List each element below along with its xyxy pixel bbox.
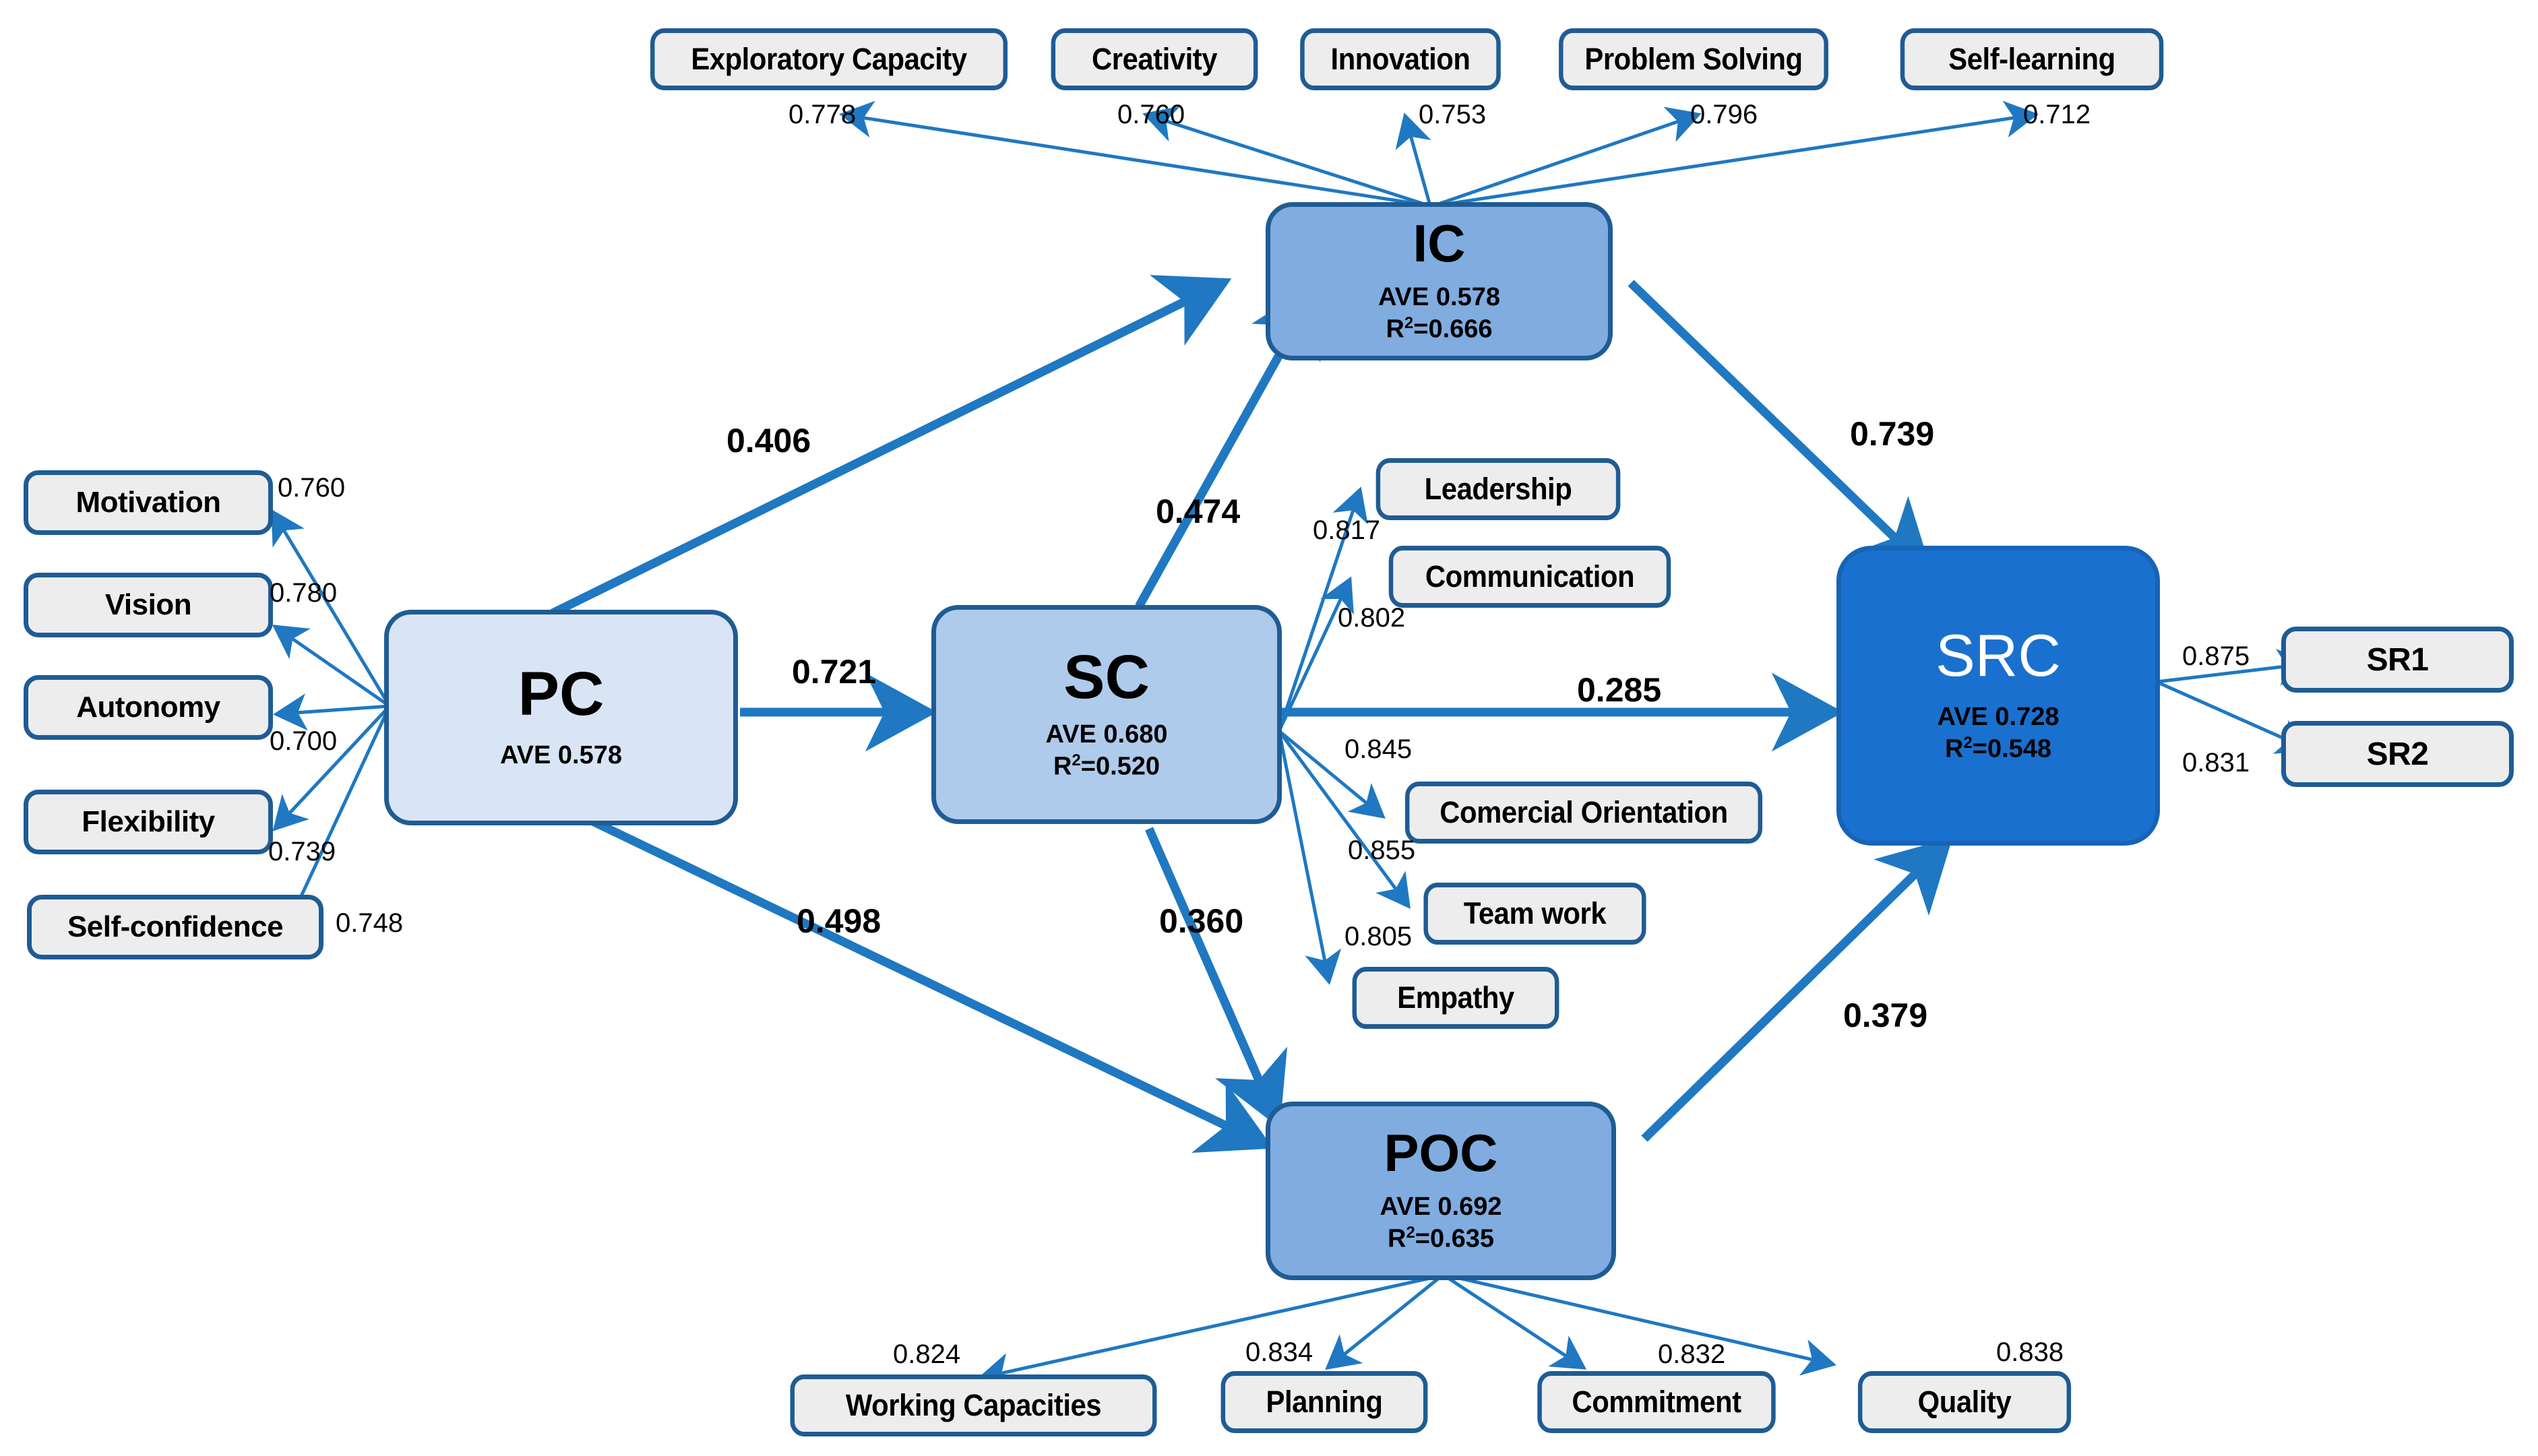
indicator-leadership[interactable]: Leadership (1376, 458, 1621, 520)
loading-comercial-orientation: 0.845 (1344, 734, 1412, 765)
construct-sc-r2: R2=0.520 (1053, 751, 1160, 783)
indicator-commitment[interactable]: Commitment (1537, 1371, 1775, 1433)
loading-sr2: 0.831 (2182, 748, 2250, 778)
path-coefficient-sc-poc: 0.360 (1159, 901, 1243, 941)
construct-src-ave: AVE 0.728 (1938, 701, 2060, 734)
path-coefficient-pc-poc: 0.498 (797, 901, 881, 941)
construct-pc-ave: AVE 0.578 (500, 740, 622, 772)
path-coefficient-pc-ic: 0.406 (726, 421, 811, 460)
indicator-self-confidence[interactable]: Self-confidence (27, 895, 323, 959)
indicator-sr1[interactable]: SR1 (2281, 627, 2514, 693)
sem-path-diagram: Exploratory Capacity 0.778 Creativity 0.… (0, 0, 2538, 1456)
construct-poc-ave: AVE 0.692 (1380, 1191, 1502, 1224)
loading-planning: 0.834 (1245, 1337, 1313, 1368)
loading-creativity: 0.760 (1117, 100, 1185, 130)
indicator-exploratory-capacity[interactable]: Exploratory Capacity (650, 28, 1008, 90)
construct-src-r2-exponent: 2 (1963, 734, 1972, 752)
path-coefficient-pc-sc: 0.721 (792, 652, 876, 691)
loading-team-work: 0.855 (1348, 835, 1415, 866)
indicator-flexibility[interactable]: Flexibility (24, 790, 273, 854)
loading-working-capacities: 0.824 (893, 1339, 960, 1370)
construct-src-label: SRC (1936, 626, 2061, 685)
loading-leadership: 0.817 (1313, 515, 1380, 546)
indicator-problem-solving[interactable]: Problem Solving (1559, 28, 1828, 90)
construct-src-r2: R2=0.548 (1945, 733, 2051, 765)
indicator-team-work[interactable]: Team work (1423, 883, 1646, 945)
indicator-innovation[interactable]: Innovation (1300, 28, 1501, 90)
loading-self-learning: 0.712 (2023, 100, 2091, 130)
construct-ic-r2-base: R (1386, 315, 1404, 344)
construct-src-r2-base: R (1945, 735, 1963, 763)
indicator-working-capacities[interactable]: Working Capacities (790, 1374, 1156, 1436)
loading-problem-solving: 0.796 (1690, 100, 1758, 130)
indicator-empathy[interactable]: Empathy (1353, 967, 1559, 1029)
construct-src-r2-value: =0.548 (1973, 735, 2051, 763)
loading-vision: 0.780 (270, 578, 337, 608)
indicator-autonomy[interactable]: Autonomy (24, 675, 273, 740)
loading-motivation: 0.760 (278, 473, 345, 503)
indicator-quality[interactable]: Quality (1858, 1371, 2071, 1433)
loading-innovation: 0.753 (1419, 100, 1486, 130)
construct-sc-label: SC (1063, 646, 1150, 708)
loading-quality: 0.838 (1996, 1337, 2064, 1368)
construct-pc[interactable]: PC AVE 0.578 (384, 610, 738, 825)
loading-commitment: 0.832 (1658, 1339, 1725, 1370)
path-coefficient-sc-ic: 0.474 (1156, 492, 1240, 531)
loading-self-confidence: 0.748 (336, 908, 403, 939)
path-coefficient-sc-src: 0.285 (1577, 670, 1661, 709)
construct-sc[interactable]: SC AVE 0.680 R2=0.520 (931, 605, 1282, 824)
loading-flexibility: 0.739 (268, 837, 336, 867)
construct-src[interactable]: SRC AVE 0.728 R2=0.548 (1836, 546, 2160, 846)
indicator-creativity[interactable]: Creativity (1051, 28, 1258, 90)
construct-ic-r2-value: =0.666 (1413, 315, 1492, 344)
indicator-communication[interactable]: Communication (1389, 546, 1671, 608)
construct-ic-ave: AVE 0.578 (1378, 282, 1500, 314)
construct-sc-ave: AVE 0.680 (1046, 719, 1168, 751)
loading-exploratory-capacity: 0.778 (788, 100, 856, 130)
loading-sr1: 0.875 (2182, 641, 2250, 672)
construct-poc-r2-base: R (1388, 1225, 1406, 1253)
construct-sc-r2-base: R (1053, 753, 1072, 781)
construct-ic-r2-exponent: 2 (1404, 314, 1413, 332)
construct-ic-label: IC (1413, 217, 1466, 270)
construct-sc-r2-value: =0.520 (1081, 753, 1160, 781)
construct-ic[interactable]: IC AVE 0.578 R2=0.666 (1266, 202, 1613, 360)
indicator-planning[interactable]: Planning (1221, 1371, 1428, 1433)
indicator-comercial-orientation[interactable]: Comercial Orientation (1405, 782, 1762, 844)
indicator-motivation[interactable]: Motivation (24, 470, 273, 535)
indicator-vision[interactable]: Vision (24, 573, 273, 637)
indicator-self-learning[interactable]: Self-learning (1900, 28, 2164, 90)
construct-poc-r2: R2=0.635 (1388, 1223, 1494, 1255)
path-coefficient-poc-src: 0.379 (1843, 996, 1927, 1035)
construct-ic-r2: R2=0.666 (1386, 313, 1492, 346)
construct-poc-r2-value: =0.635 (1415, 1225, 1494, 1253)
loading-empathy: 0.805 (1344, 922, 1412, 952)
indicator-sr2[interactable]: SR2 (2281, 721, 2514, 787)
construct-poc[interactable]: POC AVE 0.692 R2=0.635 (1266, 1102, 1616, 1280)
loading-autonomy: 0.700 (270, 726, 337, 757)
construct-sc-r2-exponent: 2 (1072, 751, 1080, 769)
construct-poc-r2-exponent: 2 (1406, 1224, 1415, 1242)
construct-pc-label: PC (518, 663, 605, 725)
construct-poc-label: POC (1384, 1127, 1497, 1179)
loading-communication: 0.802 (1338, 603, 1405, 633)
path-coefficient-ic-src: 0.739 (1850, 414, 1934, 453)
